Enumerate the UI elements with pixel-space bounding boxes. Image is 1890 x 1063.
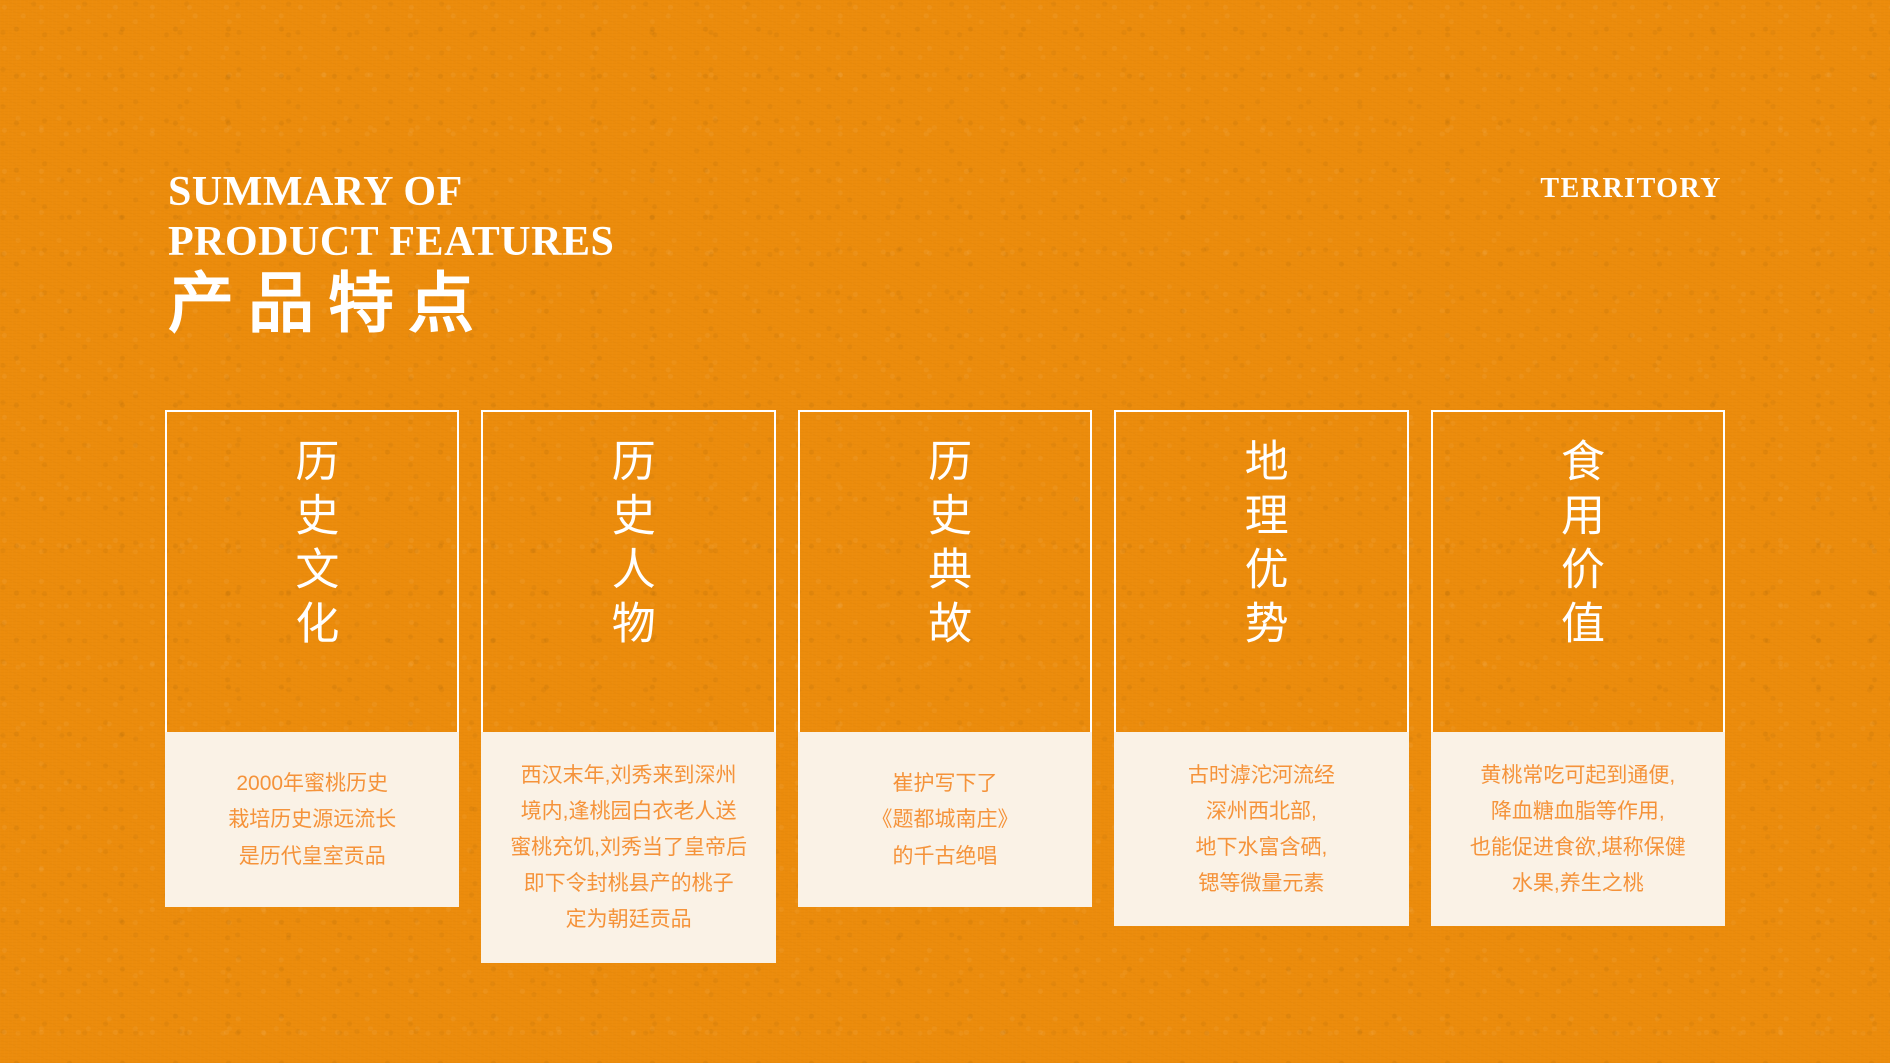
feature-card-header: 历史人物 xyxy=(481,410,775,732)
feature-card-header: 历史文化 xyxy=(165,410,459,732)
feature-card-body: 古时滹沱河流经 深州西北部, 地下水富含硒, 锶等微量元素 xyxy=(1114,732,1408,926)
feature-card-header: 食用价值 xyxy=(1431,410,1725,732)
feature-card-title: 食用价值 xyxy=(1550,438,1606,654)
feature-card-title: 历史人物 xyxy=(600,438,656,654)
feature-card: 历史典故 崔护写下了 《题都城南庄》 的千古绝唱 xyxy=(798,410,1092,907)
slide-background: SUMMARY OF PRODUCT FEATURES 产品特点 TERRITO… xyxy=(0,0,1890,1063)
feature-card-header: 历史典故 xyxy=(798,410,1092,732)
feature-card-title: 地理优势 xyxy=(1233,438,1289,654)
feature-card-title: 历史典故 xyxy=(917,438,973,654)
feature-card: 历史文化 2000年蜜桃历史 栽培历史源远流长 是历代皇室贡品 xyxy=(165,410,459,907)
feature-card: 食用价值 黄桃常吃可起到通便, 降血糖血脂等作用, 也能促进食欲,堪称保健 水果… xyxy=(1431,410,1725,926)
feature-card-body: 2000年蜜桃历史 栽培历史源远流长 是历代皇室贡品 xyxy=(165,732,459,907)
feature-card-list: 历史文化 2000年蜜桃历史 栽培历史源远流长 是历代皇室贡品 历史人物 西汉末… xyxy=(165,410,1725,963)
feature-card-body: 西汉末年,刘秀来到深州 境内,逢桃园白衣老人送 蜜桃充饥,刘秀当了皇帝后 即下令… xyxy=(481,732,775,963)
slide-title-chinese: 产品特点 xyxy=(168,272,488,338)
feature-card-body: 崔护写下了 《题都城南庄》 的千古绝唱 xyxy=(798,732,1092,907)
brand-tag: TERRITORY xyxy=(1540,173,1722,205)
feature-card-body: 黄桃常吃可起到通便, 降血糖血脂等作用, 也能促进食欲,堪称保健 水果,养生之桃 xyxy=(1431,732,1725,926)
feature-card: 历史人物 西汉末年,刘秀来到深州 境内,逢桃园白衣老人送 蜜桃充饥,刘秀当了皇帝… xyxy=(481,410,775,963)
feature-card-header: 地理优势 xyxy=(1114,410,1408,732)
feature-card-title: 历史文化 xyxy=(284,438,340,654)
feature-card: 地理优势 古时滹沱河流经 深州西北部, 地下水富含硒, 锶等微量元素 xyxy=(1114,410,1408,926)
slide-title-english: SUMMARY OF PRODUCT FEATURES xyxy=(168,168,614,267)
